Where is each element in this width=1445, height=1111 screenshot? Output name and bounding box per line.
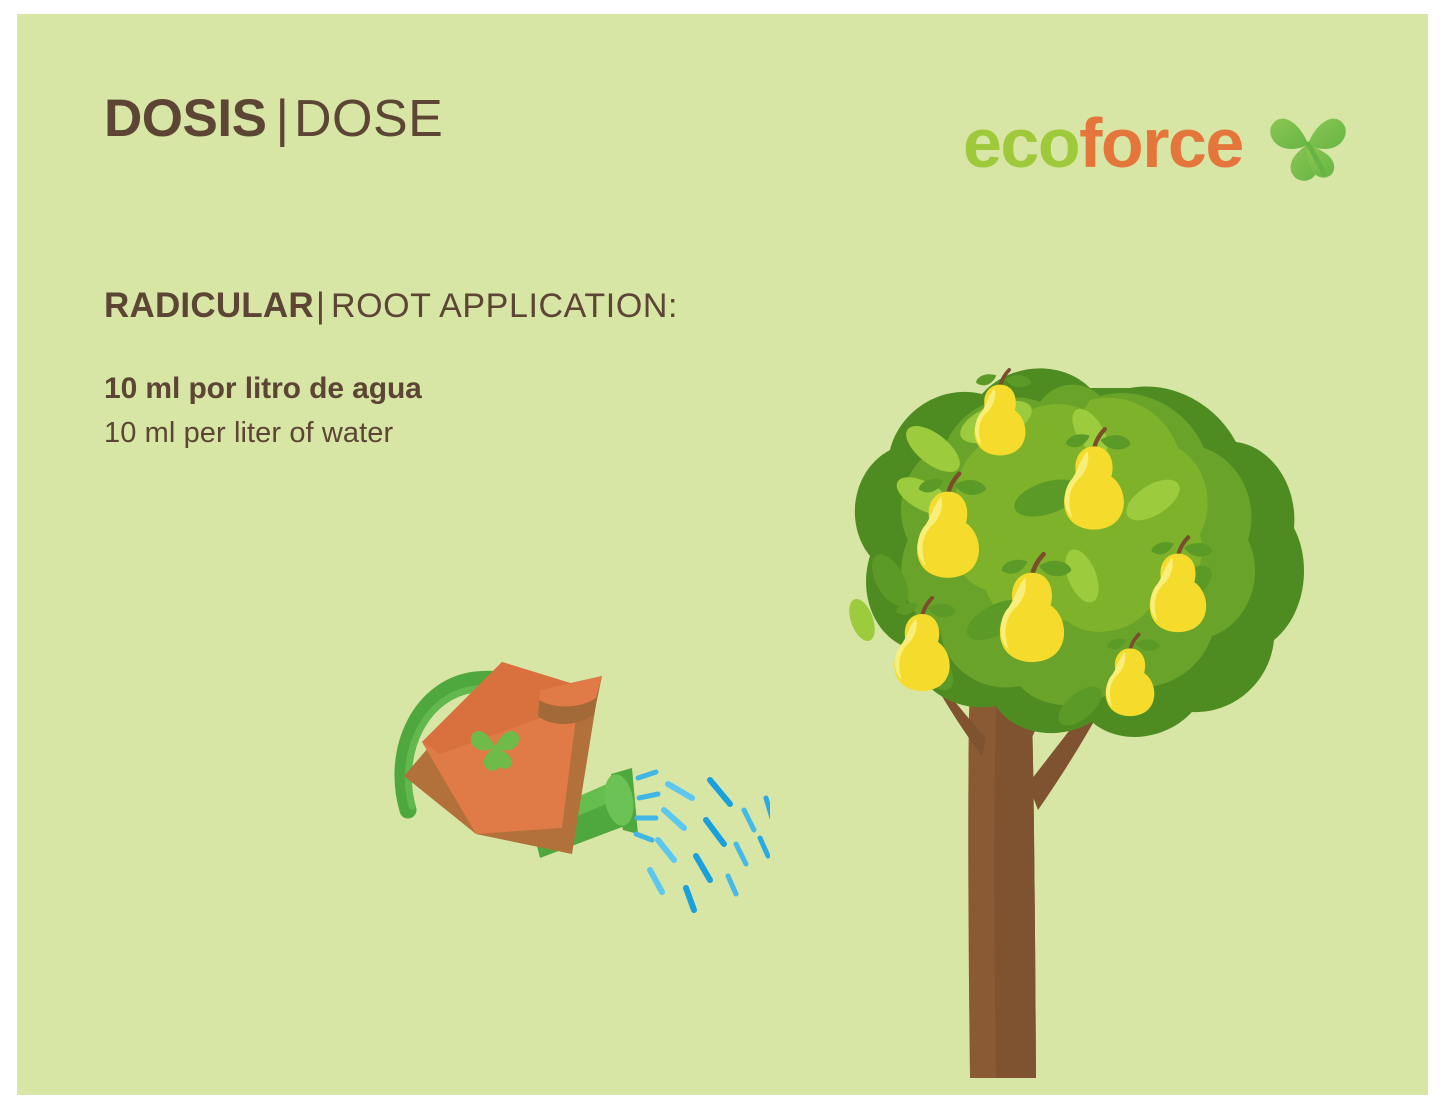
- pear-tree-icon: [800, 318, 1320, 1078]
- dose-value-english: 10 ml per liter of water: [104, 419, 393, 448]
- section-subhead: RADICULAR|ROOT APPLICATION:: [104, 288, 678, 323]
- water-spray: [636, 772, 770, 910]
- four-leaf-clover-icon: [1258, 92, 1358, 192]
- logo-text-eco: eco: [963, 104, 1079, 182]
- subhead-separator: |: [314, 286, 331, 325]
- page-title-light: DOSE: [294, 90, 443, 148]
- dose-value-spanish: 10 ml por litro de agua: [104, 374, 422, 404]
- page-title: DOSIS|DOSE: [104, 92, 443, 145]
- subhead-light: ROOT APPLICATION:: [331, 287, 678, 325]
- watering-can-icon: [380, 628, 770, 928]
- logo-wordmark: ecoforce: [963, 108, 1243, 178]
- page-title-separator: |: [266, 90, 294, 148]
- subhead-bold: RADICULAR: [104, 286, 314, 325]
- dose-infographic-page: DOSIS|DOSE ecoforce RADICULAR|ROOT APPL: [0, 0, 1445, 1111]
- ecoforce-logo: ecoforce: [963, 92, 1353, 197]
- page-title-bold: DOSIS: [104, 89, 266, 148]
- logo-text-force: force: [1079, 104, 1243, 182]
